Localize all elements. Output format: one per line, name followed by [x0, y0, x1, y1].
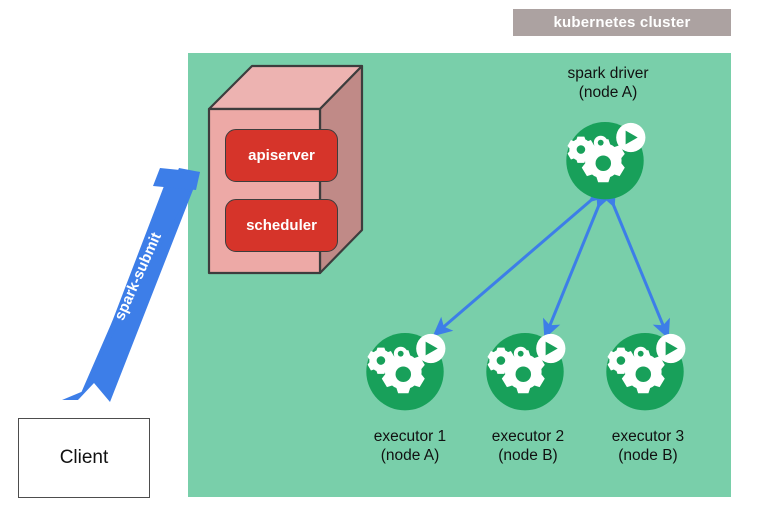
play-icon	[656, 334, 685, 363]
gear-icon	[608, 348, 635, 374]
executor-3-name: executor 3	[584, 427, 712, 446]
gear-icon	[634, 347, 648, 361]
diagram-canvas: kubernetes cluster spark-submit Client a…	[0, 0, 761, 516]
executor-3-node: (node B)	[584, 446, 712, 465]
executor-3-label: executor 3 (node B)	[584, 427, 712, 465]
